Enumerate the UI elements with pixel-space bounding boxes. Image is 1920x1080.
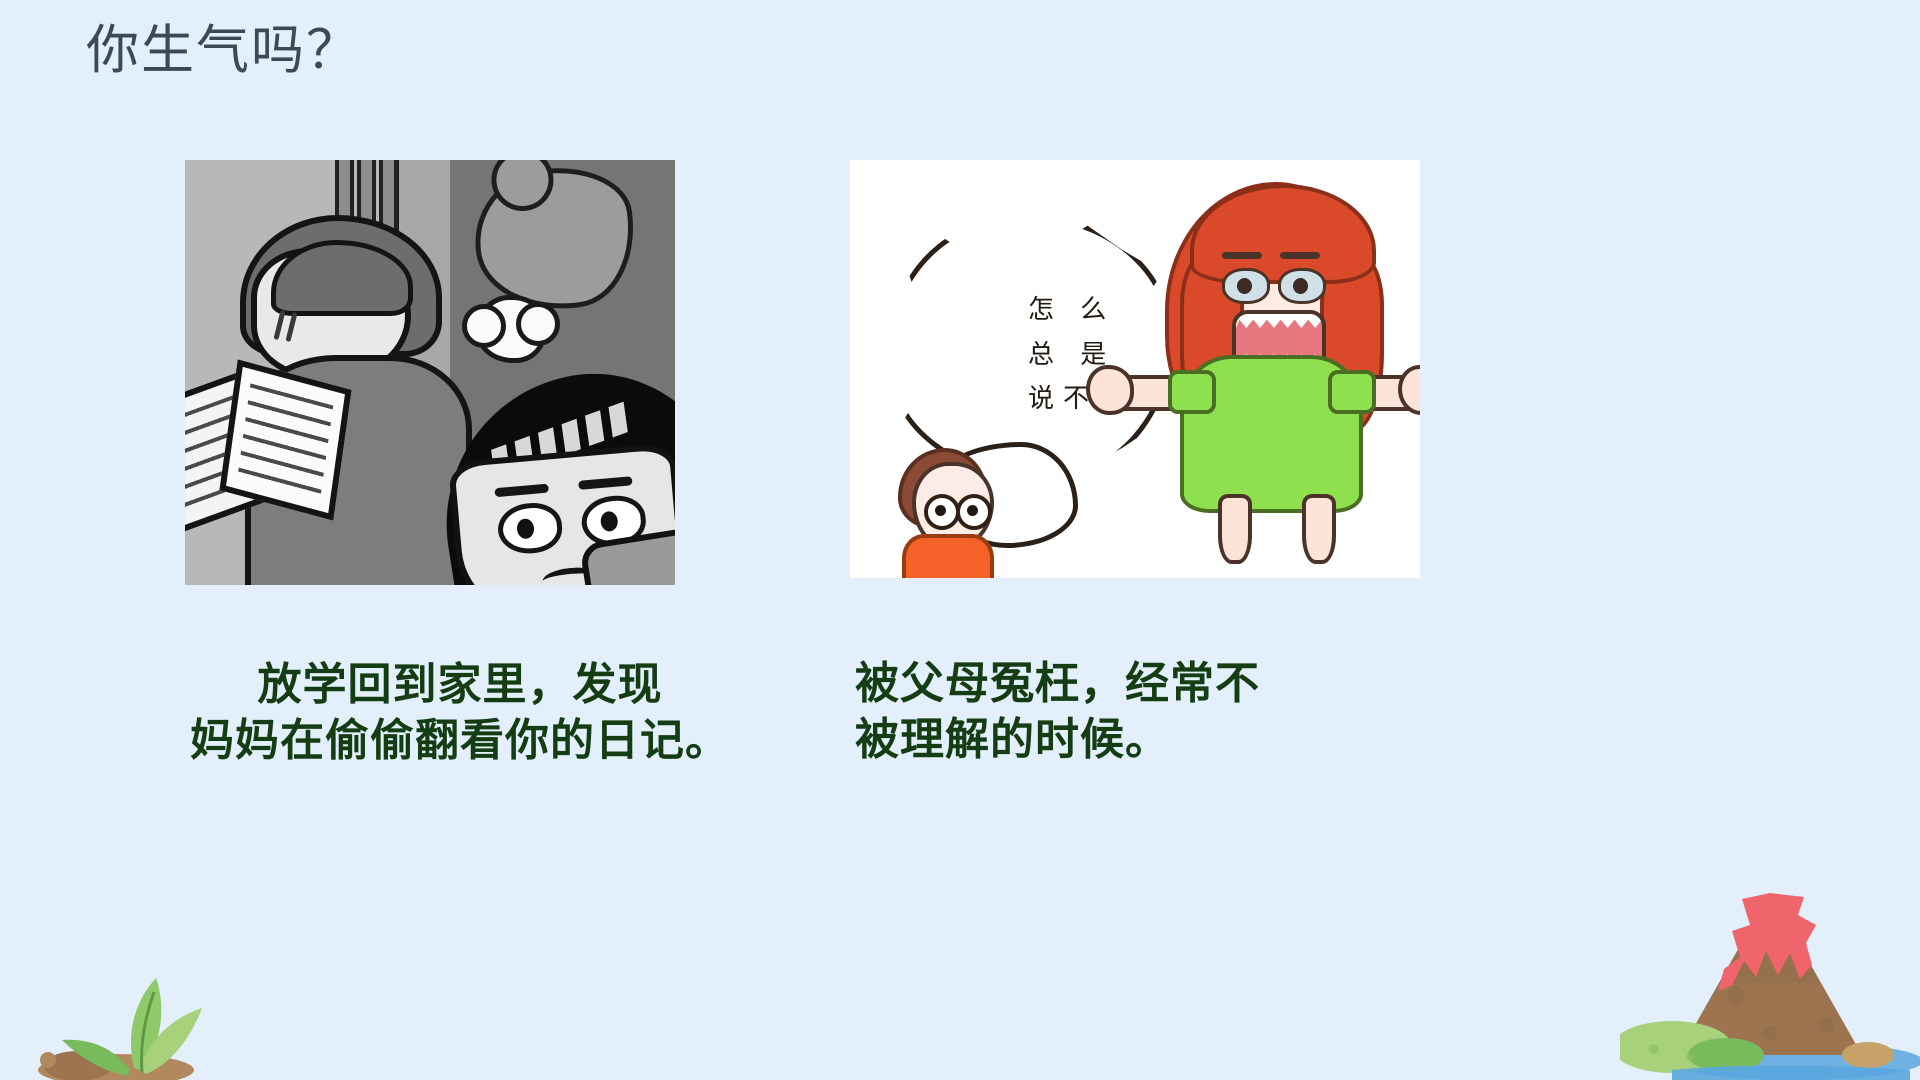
volcano-island-graphic xyxy=(1620,865,1920,1080)
mother-leg-right xyxy=(1302,494,1336,564)
comic-girl-eye-left xyxy=(496,501,564,556)
comic-book-text-lines xyxy=(238,383,334,496)
mother-eye-left xyxy=(1222,268,1270,304)
child-orange-shirt xyxy=(902,534,994,578)
comic-girl-hair-flower xyxy=(475,295,547,363)
grass-plant-graphic xyxy=(30,960,260,1080)
mother-leg-left xyxy=(1218,494,1252,564)
comic-girl-brow-right xyxy=(578,476,633,490)
child-eye-left xyxy=(924,494,960,530)
mother-hand-left xyxy=(1086,365,1134,415)
mother-reading-diary-comic xyxy=(185,160,675,585)
caption-right: 被父母冤枉，经常不 被理解的时候。 xyxy=(845,656,1565,769)
page-title: 你生气吗？ xyxy=(86,22,361,80)
mother-brow-left xyxy=(1222,252,1262,259)
mother-sleeve-right xyxy=(1328,370,1376,414)
content-column-right: 怎 么 总 是 说不听！ 被父母冤枉，经常不 被理解的时候。 xyxy=(845,160,1565,769)
angry-mother-scolding-child-illustration: 怎 么 总 是 说不听！ xyxy=(850,160,1420,578)
child-eye-right xyxy=(956,494,992,530)
mother-brow-right xyxy=(1280,252,1320,259)
mother-eye-right xyxy=(1278,268,1326,304)
mother-sleeve-left xyxy=(1168,370,1216,414)
caption-left: 放学回到家里，发现 妈妈在偷偷翻看你的日记。 xyxy=(120,657,840,770)
mother-teeth-upper xyxy=(1236,314,1322,328)
mother-hair-fringe xyxy=(1190,184,1376,284)
comic-girl-brow-left xyxy=(494,484,549,498)
content-column-left: 放学回到家里，发现 妈妈在偷偷翻看你的日记。 xyxy=(120,160,840,770)
